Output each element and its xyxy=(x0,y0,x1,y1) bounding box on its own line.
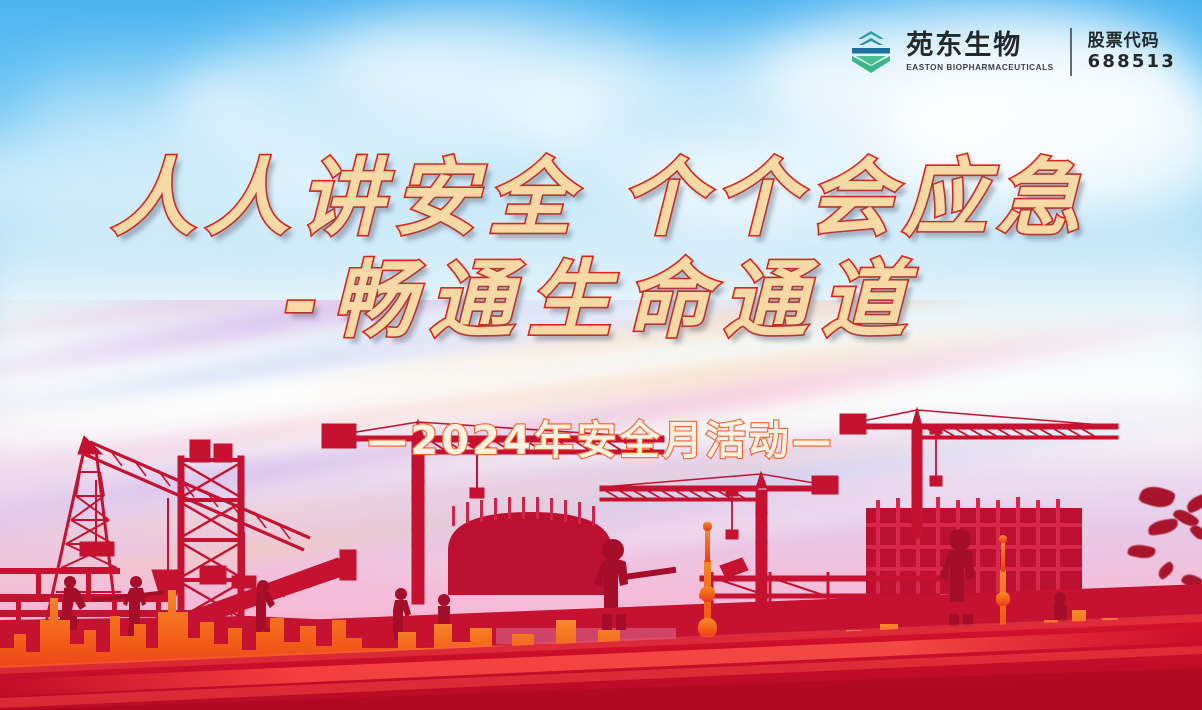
stock-code-number: 688513 xyxy=(1088,51,1176,73)
tower-crane-right-mid xyxy=(600,472,838,602)
easton-pine-arrow-logo xyxy=(850,30,892,74)
brand-name-cn: 苑东生物 xyxy=(906,32,1053,60)
cloud xyxy=(20,60,250,150)
logo-divider xyxy=(1070,28,1072,76)
brand-name-en: EASTON BIOPHARMACEUTICALS xyxy=(906,63,1053,72)
silhouette-scene xyxy=(0,380,1202,710)
brand-text-block: 苑东生物 EASTON BIOPHARMACEUTICALS xyxy=(906,32,1053,71)
stock-code-block: 股票代码 688513 xyxy=(1088,31,1176,74)
dome-structure xyxy=(448,497,612,595)
safety-poster: 苑东生物 EASTON BIOPHARMACEUTICALS 股票代码 6885… xyxy=(0,0,1202,710)
stock-code-label: 股票代码 xyxy=(1088,31,1176,52)
brand-header: 苑东生物 EASTON BIOPHARMACEUTICALS 股票代码 6885… xyxy=(850,28,1176,76)
